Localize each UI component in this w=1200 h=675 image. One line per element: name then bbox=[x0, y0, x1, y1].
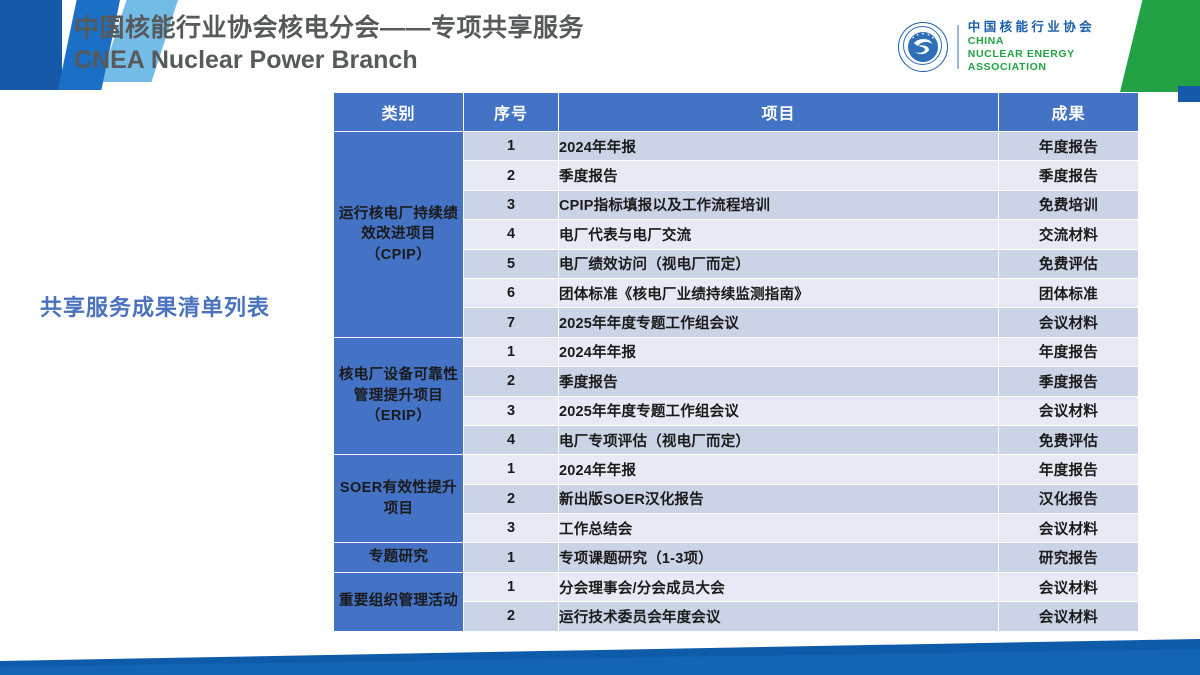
cnea-emblem-icon bbox=[898, 22, 948, 72]
index-cell: 2 bbox=[464, 161, 559, 190]
project-cell: 电厂专项评估（视电厂而定） bbox=[559, 425, 999, 454]
table-row: 核电厂设备可靠性管理提升项目（ERIP）12024年年报年度报告 bbox=[334, 337, 1139, 366]
category-cell: SOER有效性提升项目 bbox=[334, 455, 464, 543]
table-header-row: 类别 序号 项目 成果 bbox=[334, 93, 1139, 132]
index-cell: 1 bbox=[464, 132, 559, 161]
result-cell: 会议材料 bbox=[999, 308, 1139, 337]
index-cell: 6 bbox=[464, 278, 559, 307]
index-cell: 1 bbox=[464, 543, 559, 572]
project-cell: CPIP指标填报以及工作流程培训 bbox=[559, 190, 999, 219]
index-cell: 1 bbox=[464, 572, 559, 601]
index-cell: 4 bbox=[464, 220, 559, 249]
project-cell: 季度报告 bbox=[559, 161, 999, 190]
index-cell: 3 bbox=[464, 190, 559, 219]
project-cell: 2024年年报 bbox=[559, 455, 999, 484]
index-cell: 2 bbox=[464, 367, 559, 396]
logo-name-cn: 中国核能行业协会 bbox=[968, 20, 1095, 35]
project-cell: 团体标准《核电厂业绩持续监测指南》 bbox=[559, 278, 999, 307]
project-cell: 工作总结会 bbox=[559, 514, 999, 543]
result-cell: 免费评估 bbox=[999, 425, 1139, 454]
column-header-category: 类别 bbox=[334, 93, 464, 132]
project-cell: 新出版SOER汉化报告 bbox=[559, 484, 999, 513]
table-row: 专题研究1专项课题研究（1-3项）研究报告 bbox=[334, 543, 1139, 572]
header-title-block: 中国核能行业协会核电分会——专项共享服务 CNEA Nuclear Power … bbox=[74, 12, 584, 76]
category-cell: 专题研究 bbox=[334, 543, 464, 572]
project-cell: 2025年年度专题工作组会议 bbox=[559, 308, 999, 337]
table-row: 运行核电厂持续绩效改进项目（CPIP）12024年年报年度报告 bbox=[334, 132, 1139, 161]
column-header-project: 项目 bbox=[559, 93, 999, 132]
project-cell: 专项课题研究（1-3项） bbox=[559, 543, 999, 572]
project-cell: 电厂绩效访问（视电厂而定） bbox=[559, 249, 999, 278]
project-cell: 2024年年报 bbox=[559, 132, 999, 161]
project-cell: 2025年年度专题工作组会议 bbox=[559, 396, 999, 425]
logo-name-en-line2: NUCLEAR ENERGY bbox=[968, 49, 1095, 61]
category-cell: 运行核电厂持续绩效改进项目（CPIP） bbox=[334, 132, 464, 338]
project-cell: 分会理事会/分会成员大会 bbox=[559, 572, 999, 601]
index-cell: 2 bbox=[464, 484, 559, 513]
column-header-result: 成果 bbox=[999, 93, 1139, 132]
logo-name-en-line3: ASSOCIATION bbox=[968, 62, 1095, 74]
result-cell: 会议材料 bbox=[999, 514, 1139, 543]
logo-text-block: 中国核能行业协会 CHINA NUCLEAR ENERGY ASSOCIATIO… bbox=[968, 20, 1095, 73]
page-title-cn: 中国核能行业协会核电分会——专项共享服务 bbox=[74, 12, 584, 44]
index-cell: 1 bbox=[464, 455, 559, 484]
index-cell: 3 bbox=[464, 396, 559, 425]
category-cell: 重要组织管理活动 bbox=[334, 572, 464, 631]
slide-header: 中国核能行业协会核电分会——专项共享服务 CNEA Nuclear Power … bbox=[0, 0, 1200, 90]
section-caption: 共享服务成果清单列表 bbox=[40, 290, 270, 322]
column-header-index: 序号 bbox=[464, 93, 559, 132]
results-table-container: 类别 序号 项目 成果 运行核电厂持续绩效改进项目（CPIP）12024年年报年… bbox=[333, 92, 1138, 632]
project-cell: 电厂代表与电厂交流 bbox=[559, 220, 999, 249]
table-row: SOER有效性提升项目12024年年报年度报告 bbox=[334, 455, 1139, 484]
index-cell: 4 bbox=[464, 425, 559, 454]
result-cell: 免费评估 bbox=[999, 249, 1139, 278]
result-cell: 会议材料 bbox=[999, 572, 1139, 601]
table-row: 重要组织管理活动1分会理事会/分会成员大会会议材料 bbox=[334, 572, 1139, 601]
result-cell: 会议材料 bbox=[999, 396, 1139, 425]
index-cell: 5 bbox=[464, 249, 559, 278]
result-cell: 季度报告 bbox=[999, 161, 1139, 190]
cnea-logo: 中国核能行业协会 CHINA NUCLEAR ENERGY ASSOCIATIO… bbox=[898, 20, 1095, 73]
result-cell: 年度报告 bbox=[999, 337, 1139, 366]
logo-divider bbox=[957, 25, 959, 69]
project-cell: 2024年年报 bbox=[559, 337, 999, 366]
result-cell: 研究报告 bbox=[999, 543, 1139, 572]
result-cell: 季度报告 bbox=[999, 367, 1139, 396]
index-cell: 7 bbox=[464, 308, 559, 337]
index-cell: 3 bbox=[464, 514, 559, 543]
result-cell: 会议材料 bbox=[999, 602, 1139, 631]
category-cell: 核电厂设备可靠性管理提升项目（ERIP） bbox=[334, 337, 464, 455]
project-cell: 运行技术委员会年度会议 bbox=[559, 602, 999, 631]
result-cell: 汉化报告 bbox=[999, 484, 1139, 513]
result-cell: 团体标准 bbox=[999, 278, 1139, 307]
table-body: 运行核电厂持续绩效改进项目（CPIP）12024年年报年度报告2季度报告季度报告… bbox=[334, 132, 1139, 632]
project-cell: 季度报告 bbox=[559, 367, 999, 396]
logo-name-en-line1: CHINA bbox=[968, 36, 1095, 48]
result-cell: 年度报告 bbox=[999, 132, 1139, 161]
index-cell: 1 bbox=[464, 337, 559, 366]
result-cell: 年度报告 bbox=[999, 455, 1139, 484]
page-title-en: CNEA Nuclear Power Branch bbox=[74, 44, 584, 76]
result-cell: 交流材料 bbox=[999, 220, 1139, 249]
result-cell: 免费培训 bbox=[999, 190, 1139, 219]
index-cell: 2 bbox=[464, 602, 559, 631]
shared-service-results-table: 类别 序号 项目 成果 运行核电厂持续绩效改进项目（CPIP）12024年年报年… bbox=[333, 92, 1139, 632]
